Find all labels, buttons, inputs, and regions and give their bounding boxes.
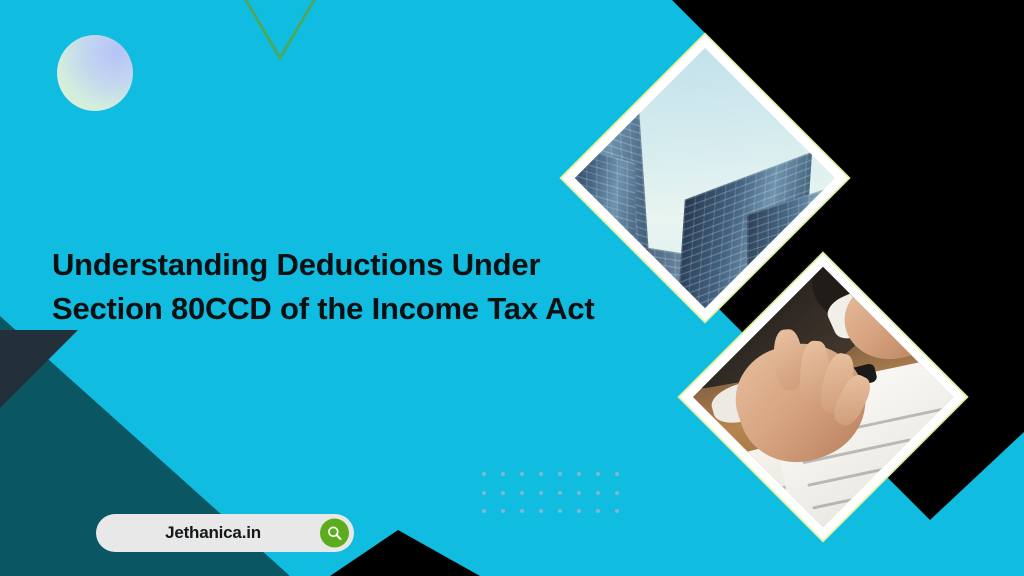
gradient-circle-decoration — [57, 35, 133, 111]
dot-grid-decoration — [482, 472, 634, 528]
page-title: Understanding Deductions Under Section 8… — [52, 243, 652, 331]
green-chevron-icon — [190, 0, 370, 68]
site-badge-label: Jethanica.in — [165, 523, 261, 543]
blog-banner: Understanding Deductions Under Section 8… — [0, 0, 1024, 576]
search-icon[interactable] — [320, 519, 349, 548]
site-badge[interactable]: Jethanica.in — [96, 514, 354, 552]
